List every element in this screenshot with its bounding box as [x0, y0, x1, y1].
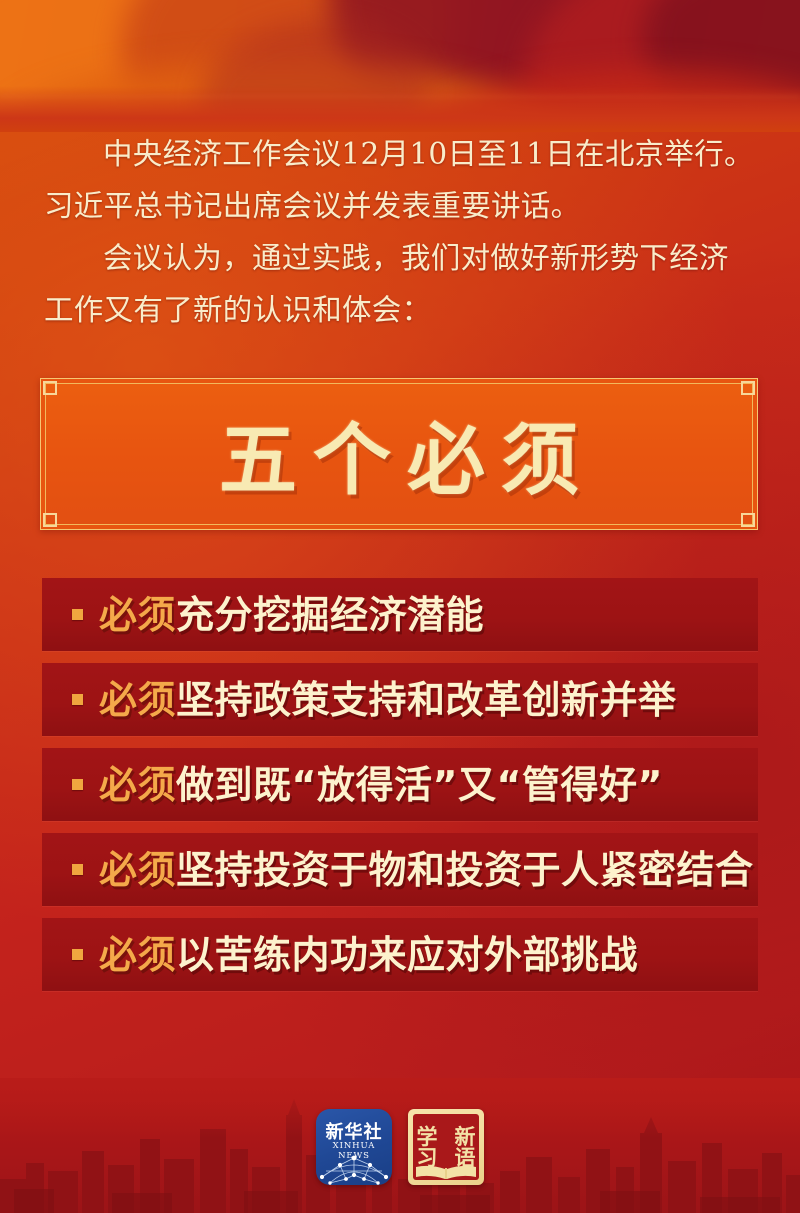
- bullet-square-icon: [72, 609, 83, 620]
- network-globe-icon: [316, 1149, 392, 1185]
- page-title: 五个必须: [41, 379, 757, 529]
- intro-paragraph-2: 会议认为，通过实践，我们对做好新形势下经济工作又有了新的认识和体会：: [44, 232, 756, 336]
- bullet-square-icon: [72, 694, 83, 705]
- poster-root: 中央经济工作会议12月10日至11日在北京举行。习近平总书记出席会议并发表重要讲…: [0, 0, 800, 1213]
- silk-banner-decoration: [0, 0, 800, 132]
- bullet-square-icon: [72, 779, 83, 790]
- xinhua-news-logo: 新华社 XINHUA NEWS: [316, 1109, 392, 1185]
- list-item: 必须坚持政策支持和改革创新并举: [42, 663, 758, 736]
- list-item-rest: 以苦练内功来应对外部挑战: [176, 933, 638, 977]
- xuexi-logo-line2: 新语: [446, 1126, 484, 1168]
- list-item-rest: 坚持投资于物和投资于人紧密结合: [176, 848, 754, 892]
- intro-paragraphs: 中央经济工作会议12月10日至11日在北京举行。习近平总书记出席会议并发表重要讲…: [44, 128, 756, 336]
- bullet-square-icon: [72, 949, 83, 960]
- list-item: 必须充分挖掘经济潜能: [42, 578, 758, 651]
- list-item-text: 必须做到既“放得活”又“管得好”: [99, 766, 663, 804]
- list-item-text: 必须坚持政策支持和改革创新并举: [99, 681, 677, 719]
- xuexi-logo-line1: 学习: [408, 1126, 446, 1168]
- list-item-text: 必须坚持投资于物和投资于人紧密结合: [99, 851, 754, 889]
- list-item-rest: 做到既“放得活”又“管得好”: [176, 763, 663, 807]
- list-item: 必须坚持投资于物和投资于人紧密结合: [42, 833, 758, 906]
- headline-box: 五个必须: [40, 378, 758, 530]
- list-item-text: 必须以苦练内功来应对外部挑战: [99, 936, 638, 974]
- intro-paragraph-1: 中央经济工作会议12月10日至11日在北京举行。习近平总书记出席会议并发表重要讲…: [44, 128, 756, 232]
- list-item-prefix: 必须: [99, 678, 176, 722]
- bullet-square-icon: [72, 864, 83, 875]
- requirements-list: 必须充分挖掘经济潜能 必须坚持政策支持和改革创新并举 必须做到既“放得活”又“管…: [42, 578, 758, 1003]
- list-item: 必须以苦练内功来应对外部挑战: [42, 918, 758, 991]
- list-item-prefix: 必须: [99, 763, 176, 807]
- silk-fade: [0, 86, 800, 132]
- list-item-text: 必须充分挖掘经济潜能: [99, 596, 484, 634]
- list-item-rest: 充分挖掘经济潜能: [176, 593, 484, 637]
- xuexi-xinyu-logo: 学习新语: [408, 1109, 484, 1185]
- footer-logos: 新华社 XINHUA NEWS: [0, 1109, 800, 1185]
- list-item: 必须做到既“放得活”又“管得好”: [42, 748, 758, 821]
- list-item-prefix: 必须: [99, 933, 176, 977]
- list-item-prefix: 必须: [99, 593, 176, 637]
- list-item-rest: 坚持政策支持和改革创新并举: [176, 678, 677, 722]
- list-item-prefix: 必须: [99, 848, 176, 892]
- open-book-icon: [414, 1164, 478, 1180]
